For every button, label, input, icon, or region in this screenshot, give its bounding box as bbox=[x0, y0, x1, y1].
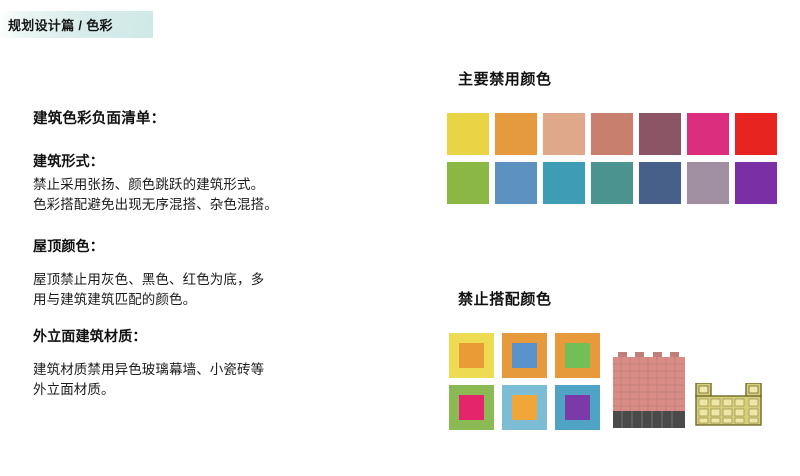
heading-prohibited-colors: 主要禁用颜色 bbox=[458, 68, 552, 89]
yellow-window-grid bbox=[699, 399, 758, 423]
color-swatch bbox=[447, 162, 489, 204]
section-architectural-form: 建筑形式： 禁止采用张扬、颜色跳跃的建筑形式。 色彩搭配避免出现无序混搭、杂色混… bbox=[33, 152, 363, 215]
color-swatch bbox=[447, 113, 489, 155]
color-swatch bbox=[735, 113, 777, 155]
color-swatch bbox=[687, 162, 729, 204]
combination-tile bbox=[502, 385, 547, 430]
heading-prohibited-combinations: 禁止搭配颜色 bbox=[458, 288, 552, 309]
combination-tile bbox=[502, 333, 547, 378]
building-illustration-pink bbox=[612, 352, 688, 435]
section-title-architectural-form: 建筑形式： bbox=[33, 152, 363, 171]
section-roof-color: 屋顶颜色： 屋顶禁止用灰色、黑色、红色为底，多 用与建筑建筑匹配的颜色。 bbox=[33, 237, 363, 310]
body-line: 色彩搭配避免出现无序混搭、杂色混搭。 bbox=[33, 195, 363, 215]
body-line: 建筑材质禁用异色玻璃幕墙、小瓷砖等 bbox=[33, 360, 363, 380]
section-body-roof-color: 屋顶禁止用灰色、黑色、红色为底，多 用与建筑建筑匹配的颜色。 bbox=[33, 270, 363, 311]
title-body-spacer bbox=[33, 260, 363, 270]
section-title-roof-color: 屋顶颜色： bbox=[33, 237, 363, 256]
body-line: 屋顶禁止用灰色、黑色、红色为底，多 bbox=[33, 270, 363, 290]
page-title: 建筑色彩负面清单： bbox=[33, 110, 363, 129]
color-swatch bbox=[639, 113, 681, 155]
color-swatch bbox=[639, 162, 681, 204]
building-illustration-yellow bbox=[694, 383, 766, 432]
breadcrumb-header-tag: 规划设计篇 / 色彩 bbox=[0, 11, 153, 38]
section-facade-material: 外立面建筑材质： 建筑材质禁用异色玻璃幕墙、小瓷砖等 外立面材质。 bbox=[33, 327, 363, 400]
combination-tile-inner bbox=[565, 343, 590, 368]
prohibited-combination-tiles bbox=[449, 333, 600, 430]
color-swatch bbox=[735, 162, 777, 204]
color-swatch bbox=[495, 162, 537, 204]
combination-tile bbox=[449, 333, 494, 378]
pink-body bbox=[613, 357, 685, 411]
section-title-facade-material: 外立面建筑材质： bbox=[33, 327, 363, 346]
combination-tile bbox=[555, 333, 600, 378]
negative-list-text-column: 建筑色彩负面清单： 建筑形式： 禁止采用张扬、颜色跳跃的建筑形式。 色彩搭配避免… bbox=[33, 110, 363, 400]
breadcrumb-text: 规划设计篇 / 色彩 bbox=[0, 15, 113, 34]
combination-tile-inner bbox=[565, 395, 590, 420]
color-swatch bbox=[687, 113, 729, 155]
title-body-spacer bbox=[33, 350, 363, 360]
body-line: 用与建筑建筑匹配的颜色。 bbox=[33, 290, 363, 310]
section-divider-spacer bbox=[33, 215, 363, 237]
combination-tile-inner bbox=[512, 395, 537, 420]
body-line: 外立面材质。 bbox=[33, 380, 363, 400]
body-line: 禁止采用张扬、颜色跳跃的建筑形式。 bbox=[33, 175, 363, 195]
combination-tile-inner bbox=[512, 343, 537, 368]
pink-base bbox=[613, 411, 685, 428]
color-swatch bbox=[591, 113, 633, 155]
combination-tile bbox=[555, 385, 600, 430]
combination-tile-inner bbox=[459, 395, 484, 420]
section-body-facade-material: 建筑材质禁用异色玻璃幕墙、小瓷砖等 外立面材质。 bbox=[33, 360, 363, 401]
color-swatch bbox=[591, 162, 633, 204]
combination-tile-inner bbox=[459, 343, 484, 368]
section-divider-spacer bbox=[33, 311, 363, 327]
section-body-architectural-form: 禁止采用张扬、颜色跳跃的建筑形式。 色彩搭配避免出现无序混搭、杂色混搭。 bbox=[33, 175, 363, 216]
yellow-towers bbox=[696, 383, 761, 397]
color-swatch bbox=[495, 113, 537, 155]
prohibited-color-palette bbox=[447, 113, 777, 204]
color-swatch bbox=[543, 113, 585, 155]
color-swatch bbox=[543, 162, 585, 204]
combination-tile bbox=[449, 385, 494, 430]
